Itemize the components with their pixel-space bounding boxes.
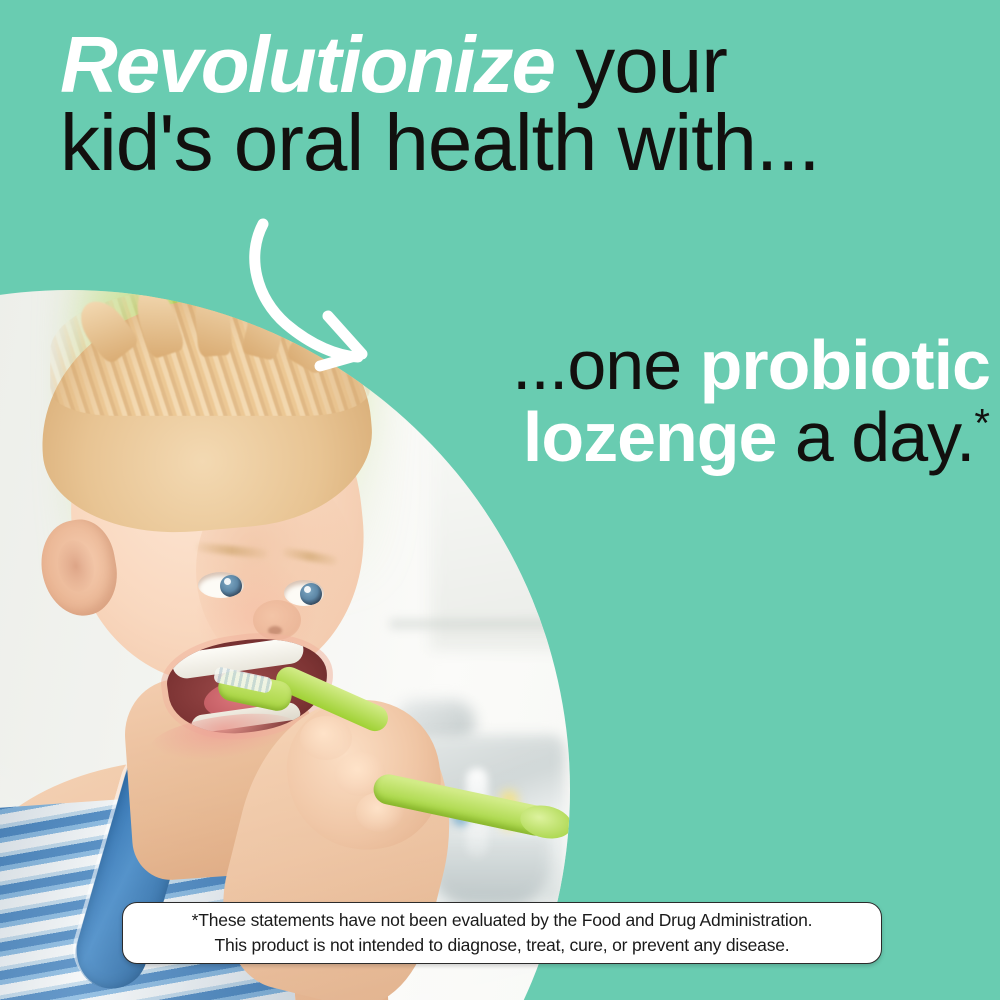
headline-emphasis: Revolutionize	[60, 20, 554, 109]
child-iris-near	[220, 575, 242, 597]
headline-line-2: kid's oral health with...	[60, 106, 960, 180]
subheadline-emphasis-1: probiotic	[700, 326, 990, 404]
subheadline-emphasis-2: lozenge	[523, 398, 777, 476]
tile-grout-line	[390, 620, 570, 628]
child-eye-near	[198, 572, 244, 598]
subheadline-line-1: ...one probiotic	[370, 330, 990, 400]
subheadline-line-2: lozenge a day.*	[370, 402, 990, 472]
footnote-marker: *	[974, 402, 990, 446]
headline-line-1: Revolutionize your	[60, 28, 960, 102]
child-eye-far	[284, 580, 324, 606]
disclaimer-line-1: *These statements have not been evaluate…	[192, 908, 813, 933]
child-iris-far	[300, 583, 322, 605]
child-nostril	[268, 626, 282, 635]
disclaimer-box: *These statements have not been evaluate…	[122, 902, 882, 964]
headline-line-1-rest: your	[554, 20, 727, 109]
subheadline: ...one probiotic lozenge a day.*	[370, 330, 990, 472]
subheadline-rest: a day.	[776, 398, 974, 476]
disclaimer-line-2: This product is not intended to diagnose…	[215, 933, 790, 958]
promo-banner: Revolutionize your kid's oral health wit…	[0, 0, 1000, 1000]
knuckle-1	[300, 716, 352, 760]
page-title: Revolutionize your kid's oral health wit…	[60, 28, 960, 179]
subheadline-lead: ...one	[512, 326, 700, 404]
